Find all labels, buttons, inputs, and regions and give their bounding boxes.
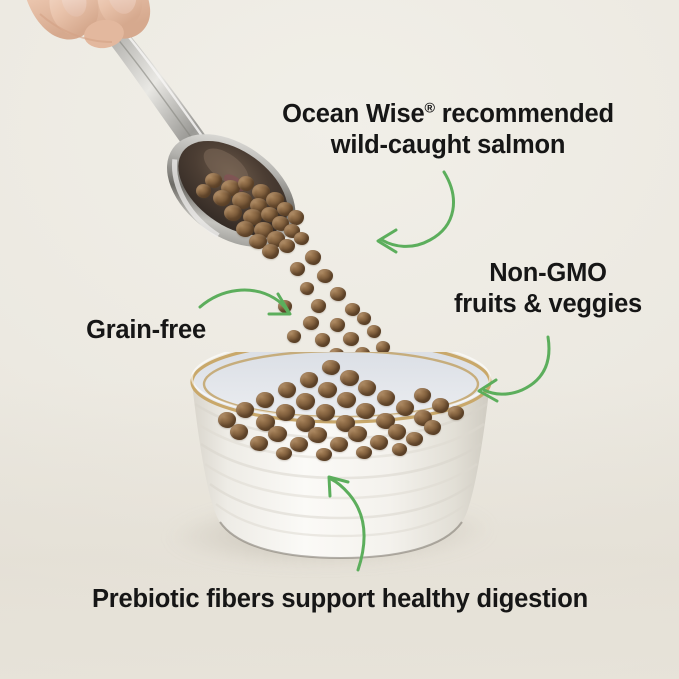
callout-prebiotic: Prebiotic fibers support healthy digesti… [32,584,648,615]
callout-salmon-line2: wild-caught salmon [331,131,565,159]
callout-salmon: Ocean Wise® recommendedwild-caught salmo… [246,99,650,161]
product-photo-scene: Ocean Wise® recommendedwild-caught salmo… [0,0,679,679]
callout-non-gmo-line2: fruits & veggies [454,290,642,318]
registered-mark-icon: ® [425,101,435,117]
callout-grain-free: Grain-free [46,315,246,346]
callout-non-gmo-line1: Non-GMO [489,259,607,287]
callout-salmon-line1-b: recommended [435,100,614,128]
callout-non-gmo: Non-GMOfruits & veggies [432,258,664,320]
bowl-svg [176,352,506,572]
ceramic-dog-bowl [176,352,506,572]
callout-salmon-line1-a: Ocean Wise [282,100,424,128]
